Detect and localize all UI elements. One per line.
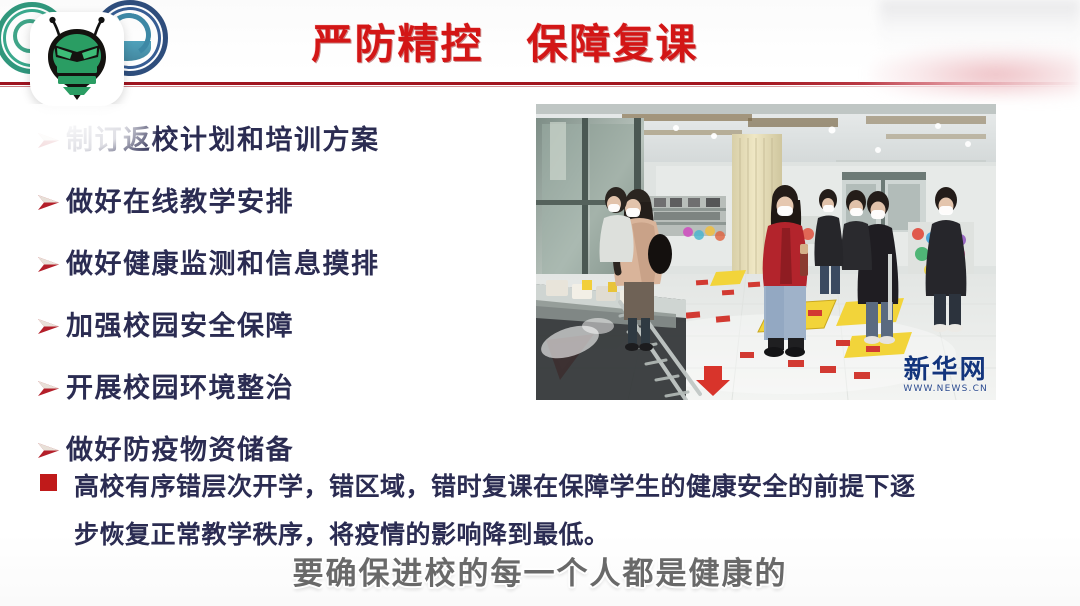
list-item: 开展校园环境整治 <box>36 372 506 434</box>
list-item: 做好健康监测和信息摸排 <box>36 248 506 310</box>
arrow-bullet-icon <box>36 310 66 338</box>
arrow-bullet-icon <box>36 248 66 276</box>
news-photo: 新华网 WWW.NEWS.CN <box>536 104 996 400</box>
page-title: 严防精控 保障复课 <box>0 18 1080 70</box>
paragraph-line-1: 高校有序错层次开学，错区域，错时复课在保障学生的健康安全的前提下逐 <box>74 472 916 501</box>
arrow-bullet-icon <box>36 434 66 462</box>
summary-paragraph: 高校有序错层次开学，错区域，错时复课在保障学生的健康安全的前提下逐 步恢复正常教… <box>40 463 1040 559</box>
square-bullet-icon <box>40 463 74 491</box>
title-divider <box>0 80 1080 90</box>
divider-line-thin <box>0 86 1080 87</box>
arrow-bullet-icon <box>36 372 66 400</box>
arrow-bullet-icon <box>36 186 66 214</box>
divider-line-thick <box>0 82 1080 85</box>
list-item: 制订返校计划和培训方案 <box>36 124 506 186</box>
list-item: 做好在线教学安排 <box>36 186 506 248</box>
mascot-app-icon[interactable] <box>30 12 124 106</box>
list-item-label: 开展校园环境整治 <box>66 372 294 406</box>
list-item-label: 做好在线教学安排 <box>66 186 294 220</box>
summary-paragraph-text: 高校有序错层次开学，错区域，错时复课在保障学生的健康安全的前提下逐 步恢复正常教… <box>74 463 916 559</box>
watermark-text-cn: 新华网 <box>903 357 988 383</box>
list-item-label: 做好健康监测和信息摸排 <box>66 248 380 282</box>
arrow-bullet-icon <box>36 124 66 152</box>
list-item-label: 加强校园安全保障 <box>66 310 294 344</box>
list-item: 加强校园安全保障 <box>36 310 506 372</box>
presentation-slide: 严防精控 保障复课 <box>0 0 1080 606</box>
video-caption: 要确保进校的每一个人都是健康的 <box>0 548 1080 593</box>
bullet-list: 制订返校计划和培训方案 做好在线教学安排 做好健康监测和信息摸排 <box>36 124 506 496</box>
paragraph-line-2: 步恢复正常教学秩序，将疫情的影响降到最低。 <box>74 520 610 549</box>
news-watermark: 新华网 WWW.NEWS.CN <box>903 357 988 394</box>
list-item-label: 制订返校计划和培训方案 <box>66 124 380 158</box>
watermark-url: WWW.NEWS.CN <box>903 385 988 394</box>
